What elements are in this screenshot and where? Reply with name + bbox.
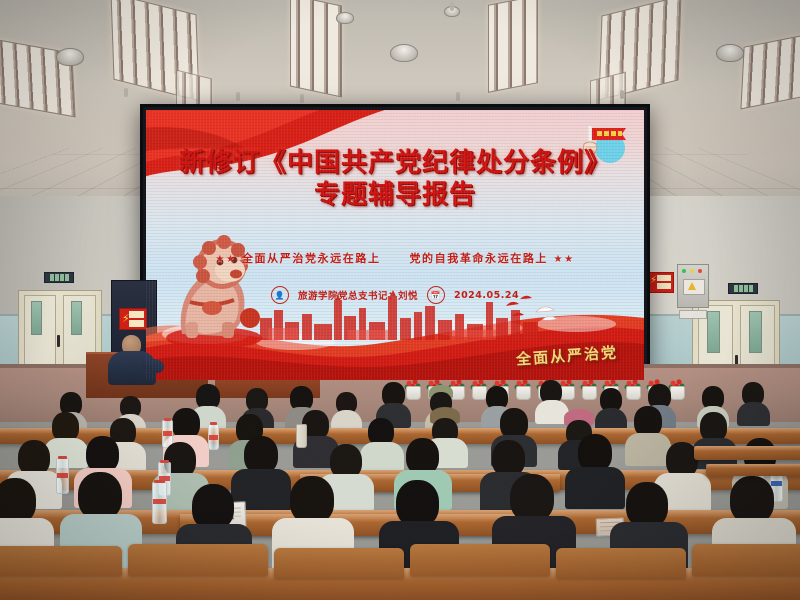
door-handle[interactable] <box>57 335 60 347</box>
panel-led-red <box>698 269 702 273</box>
seat-back <box>692 544 800 576</box>
seat-back <box>556 548 686 578</box>
electrical-warning-sign-left: ⚡ <box>119 308 147 330</box>
seated-speaker <box>104 335 160 383</box>
led-display-screen: 新修订《中国共产党纪律处分条例》 专题辅导报告 ★★ 全面从严治党永远在路上 党… <box>140 104 650 386</box>
screen-title-line1: 新修订《中国共产党纪律处分条例》 <box>179 148 611 178</box>
ceiling-speaker <box>56 48 84 66</box>
ceiling-speaker <box>390 44 418 62</box>
water-bottle <box>152 482 167 524</box>
presenter-name: 旅游学院党总支书记：刘悦 <box>298 288 418 302</box>
water-bottle <box>56 458 69 494</box>
subtitle-star-left2: ★ <box>226 254 237 265</box>
sprinkler-head <box>300 94 304 103</box>
ceiling-speaker <box>336 12 354 24</box>
door-window-glass <box>31 301 42 335</box>
screen-content: 新修订《中国共产党纪律处分条例》 专题辅导报告 ★★ 全面从严治党永远在路上 党… <box>146 110 644 380</box>
sprinkler-head <box>124 88 128 97</box>
side-desk-right <box>694 446 800 460</box>
person-icon: 👤 <box>271 286 289 304</box>
screen-subtitle: ★★ 全面从严治党永远在路上 党的自我革命永远在路上 ★★ <box>146 250 644 266</box>
presentation-date: 2024.05.24 <box>454 290 519 301</box>
subtitle-text-right: 党的自我革命永远在路上 <box>409 252 548 265</box>
side-desk-right <box>706 464 800 476</box>
subtitle-text-left: 全面从严治党永远在路上 <box>242 252 381 265</box>
thermos-cup <box>296 424 307 448</box>
door-window-glass <box>749 311 762 353</box>
door-window-glass <box>707 311 720 353</box>
electrical-warning-sign-right: ⚡ <box>648 272 674 293</box>
panel-led-green <box>682 269 686 273</box>
calendar-icon: 📅 <box>427 286 445 304</box>
seat-back <box>274 548 404 578</box>
seat-back <box>0 546 122 576</box>
electrical-control-panel <box>677 264 709 308</box>
screen-title-line2: 专题辅导报告 <box>146 180 644 212</box>
sprinkler-head <box>236 92 240 101</box>
water-bottle <box>208 424 219 450</box>
screen-title: 新修订《中国共产党纪律处分条例》 专题辅导报告 <box>146 148 644 211</box>
seat-back <box>128 544 268 576</box>
ceiling-light-fixture <box>290 0 342 98</box>
exit-sign-left <box>44 272 74 283</box>
seat-back <box>410 544 550 576</box>
lecture-hall-photo: ⚡ <box>0 0 800 600</box>
sprinkler-head <box>450 2 454 11</box>
ceiling-speaker <box>716 44 744 62</box>
panel-led-yellow <box>690 269 694 273</box>
subtitle-star-left: ★ <box>215 254 226 265</box>
subtitle-star-right: ★ <box>553 254 564 265</box>
subtitle-star-right2: ★ <box>564 254 575 265</box>
screen-meta-row: 👤 旅游学院党总支书记：刘悦 📅 2024.05.24 <box>146 286 644 304</box>
guardian-lion-statue <box>160 218 268 350</box>
audience-area <box>0 378 800 600</box>
sprinkler-head <box>456 92 460 101</box>
door-window-glass <box>71 301 82 335</box>
ceiling-light-fixture <box>488 0 538 93</box>
sprinkler-head <box>620 90 624 99</box>
panel-label-strip <box>679 310 707 319</box>
exit-sign-right <box>728 283 758 294</box>
